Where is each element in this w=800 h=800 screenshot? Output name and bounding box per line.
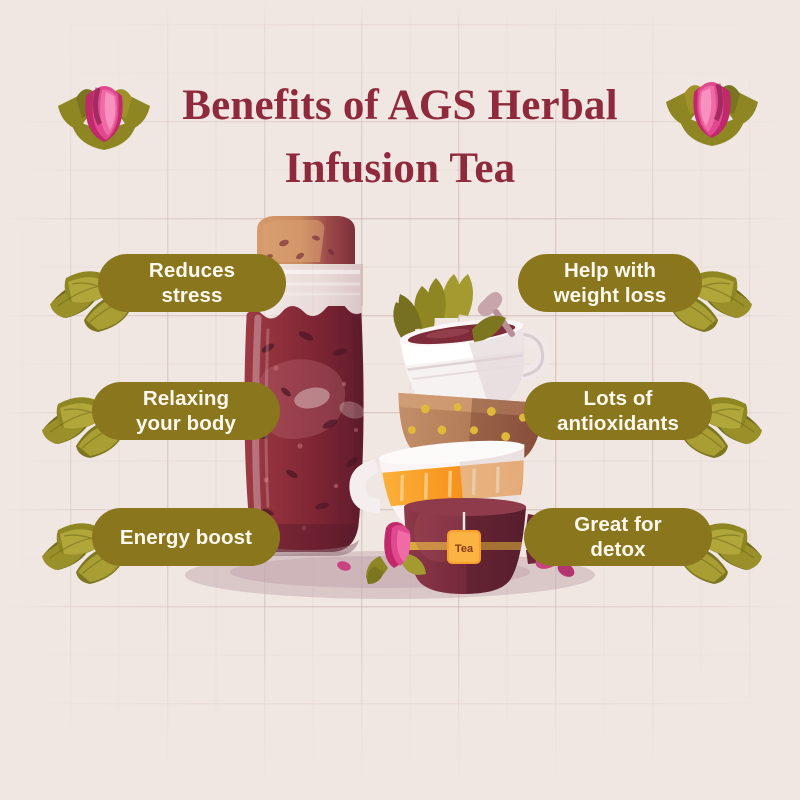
benefit-label-line2: stress [149,283,235,308]
benefit-badge-energy-boost[interactable]: Energy boost [92,508,280,566]
benefit-label-line1: Reduces [149,258,235,283]
benefit-label-line2: detox [574,537,661,562]
benefit-badge-reduces-stress[interactable]: Reduces stress [98,254,286,312]
benefit-badge-relaxing-body[interactable]: Relaxing your body [92,382,280,440]
benefit-label-line2: antioxidants [557,411,679,436]
teabag-tag-text: Tea [455,543,474,555]
benefit-badge-detox[interactable]: Great for detox [524,508,712,566]
benefit-label-line1: Help with [554,258,667,283]
benefit-label-line1: Relaxing [136,386,236,411]
benefit-badge-weight-loss[interactable]: Help with weight loss [518,254,702,312]
benefit-label-line2: weight loss [554,283,667,308]
benefit-badge-antioxidants[interactable]: Lots of antioxidants [524,382,712,440]
benefit-label-line1: Energy boost [120,525,252,550]
benefit-label-line1: Great for [574,512,661,537]
benefit-label-line1: Lots of [557,386,679,411]
benefit-label-line2: your body [136,411,236,436]
infographic-poster: Benefits of AGS Herbal Infusion Tea [0,0,800,800]
